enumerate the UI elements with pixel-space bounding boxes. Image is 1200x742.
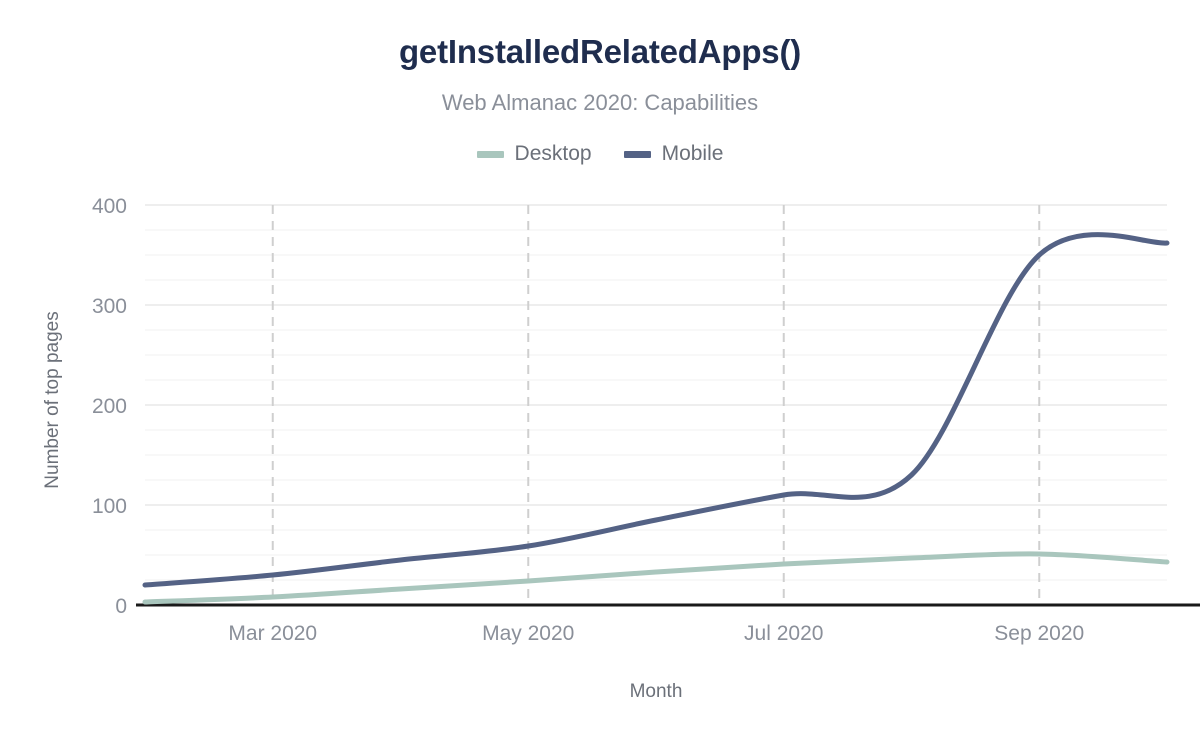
y-tick-label: 0 — [115, 595, 127, 618]
y-tick-label: 400 — [92, 195, 127, 218]
chart-plot: 0100200300400 Mar 2020May 2020Jul 2020Se… — [0, 0, 1200, 742]
series-line-mobile[interactable] — [145, 235, 1167, 585]
y-tick-label: 100 — [92, 495, 127, 518]
data-series — [145, 235, 1167, 602]
y-tick-label: 300 — [92, 295, 127, 318]
x-axis-tick-labels: Mar 2020May 2020Jul 2020Sep 2020 — [228, 622, 1084, 645]
y-axis-title: Number of top pages — [42, 311, 63, 488]
y-axis-tick-labels: 0100200300400 — [92, 195, 127, 618]
series-line-desktop[interactable] — [145, 554, 1167, 602]
x-tick-label: Mar 2020 — [228, 622, 317, 645]
x-tick-label: Sep 2020 — [994, 622, 1084, 645]
y-tick-label: 200 — [92, 395, 127, 418]
chart-container: getInstalledRelatedApps() Web Almanac 20… — [0, 0, 1200, 742]
x-tick-label: May 2020 — [482, 622, 574, 645]
x-tick-label: Jul 2020 — [744, 622, 823, 645]
x-axis-title: Month — [630, 681, 683, 702]
